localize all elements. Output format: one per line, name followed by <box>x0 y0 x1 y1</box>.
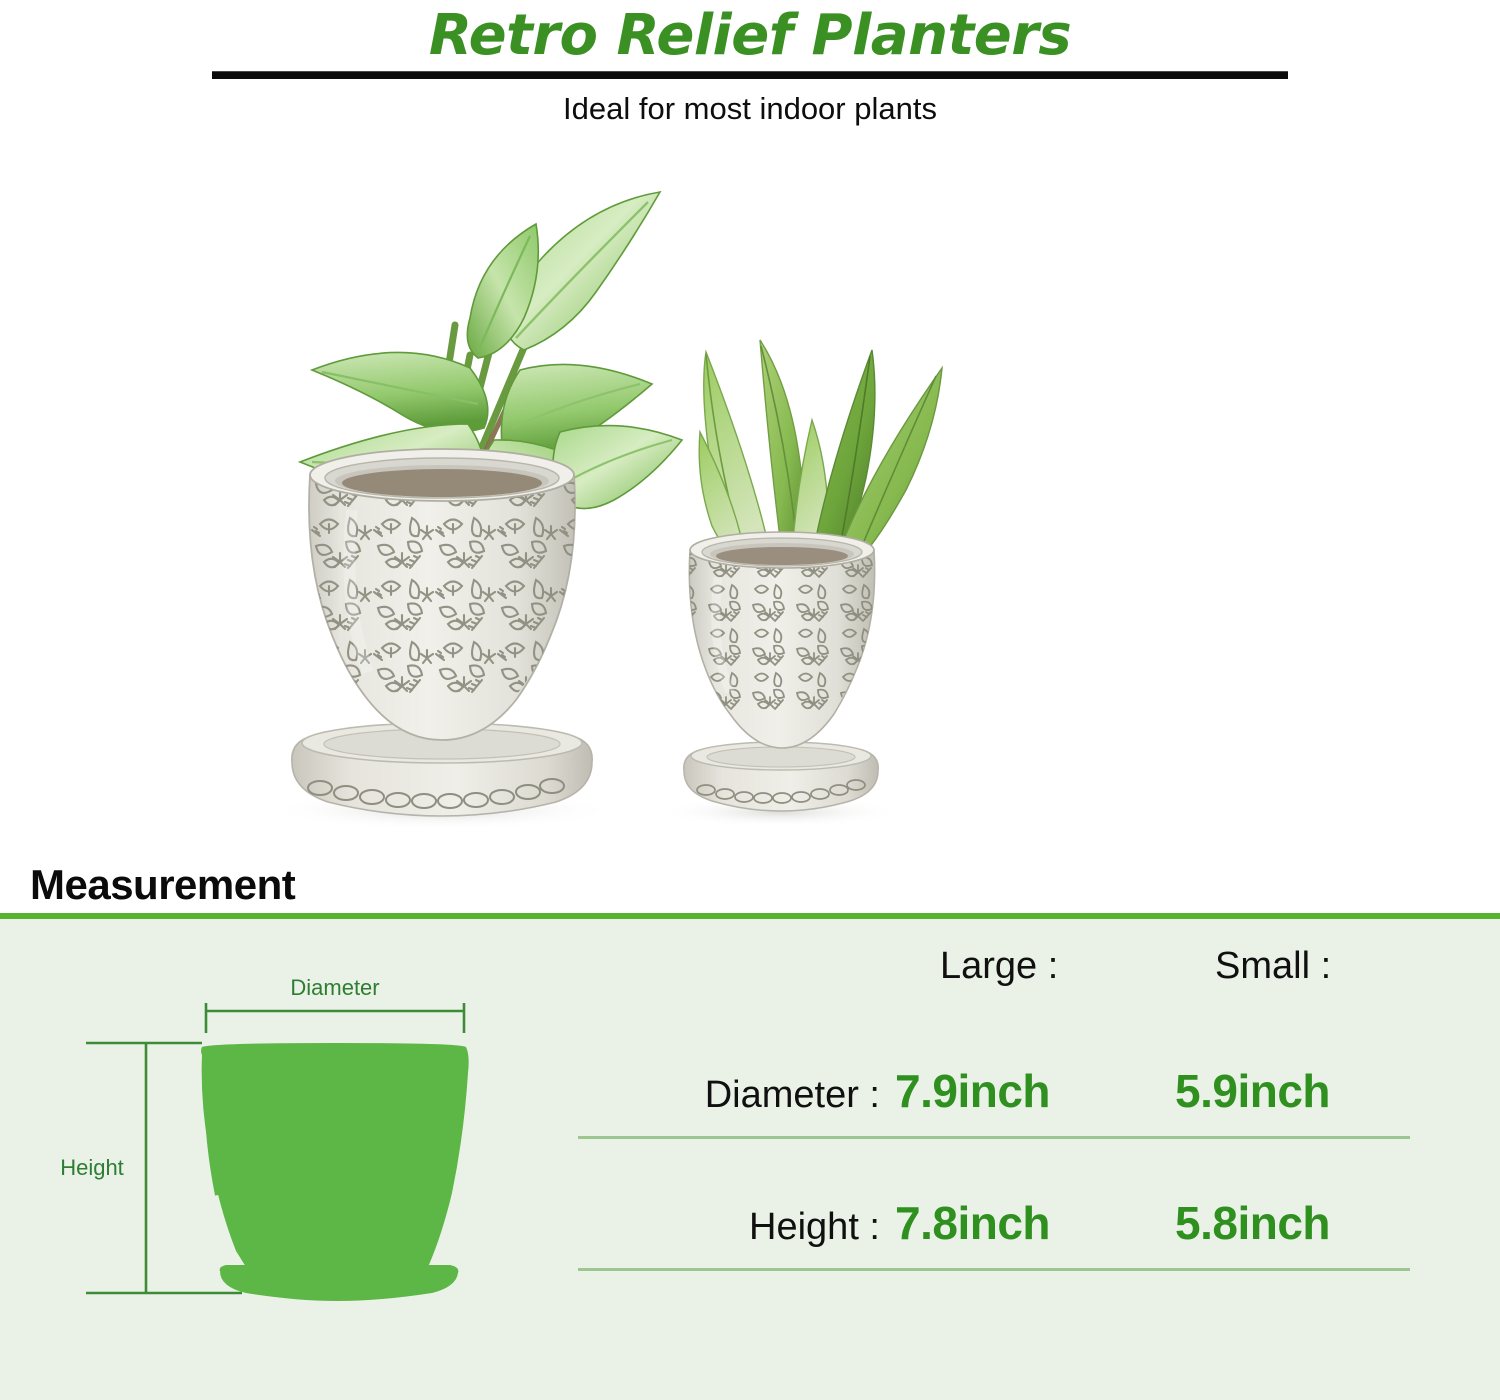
column-header-small: Small : <box>1215 942 1331 990</box>
page-title: Retro Relief Planters <box>0 4 1500 68</box>
height-label: Height <box>60 1155 124 1180</box>
row-divider <box>578 1268 1410 1271</box>
row-divider <box>578 1136 1410 1139</box>
small-planter-group <box>658 340 942 827</box>
small-planter-saucer <box>684 742 878 811</box>
large-planter-body <box>300 449 590 755</box>
value-diameter-small: 5.9inch <box>1175 1060 1330 1122</box>
table-row: Height : 7.8inch 5.8inch <box>560 1182 1460 1312</box>
value-height-small: 5.8inch <box>1175 1192 1330 1254</box>
row-label-diameter: Diameter : <box>560 1070 880 1120</box>
column-header-large: Large : <box>940 942 1058 990</box>
header: Retro Relief Planters Ideal for most ind… <box>0 0 1500 140</box>
page-subtitle: Ideal for most indoor plants <box>0 88 1500 130</box>
product-photo <box>0 140 1500 845</box>
pot-silhouette <box>201 1043 469 1301</box>
small-planter-body <box>682 532 882 760</box>
diameter-dimension-line <box>206 1003 464 1033</box>
value-height-large: 7.8inch <box>895 1192 1050 1254</box>
product-infographic: Retro Relief Planters Ideal for most ind… <box>0 0 1500 1400</box>
table-header-row: Large : Small : <box>560 930 1460 1000</box>
dimension-diagram: Diameter Height <box>50 955 520 1325</box>
measurement-heading: Measurement <box>30 859 295 911</box>
value-diameter-large: 7.9inch <box>895 1060 1050 1122</box>
title-divider <box>212 71 1288 79</box>
diameter-label: Diameter <box>290 975 379 1000</box>
snake-plant <box>699 340 942 564</box>
table-row: Diameter : 7.9inch 5.9inch <box>560 1050 1460 1180</box>
row-label-height: Height : <box>560 1202 880 1252</box>
specifications-table: Large : Small : Diameter : 7.9inch 5.9in… <box>560 930 1460 1330</box>
large-planter-group <box>267 192 682 830</box>
